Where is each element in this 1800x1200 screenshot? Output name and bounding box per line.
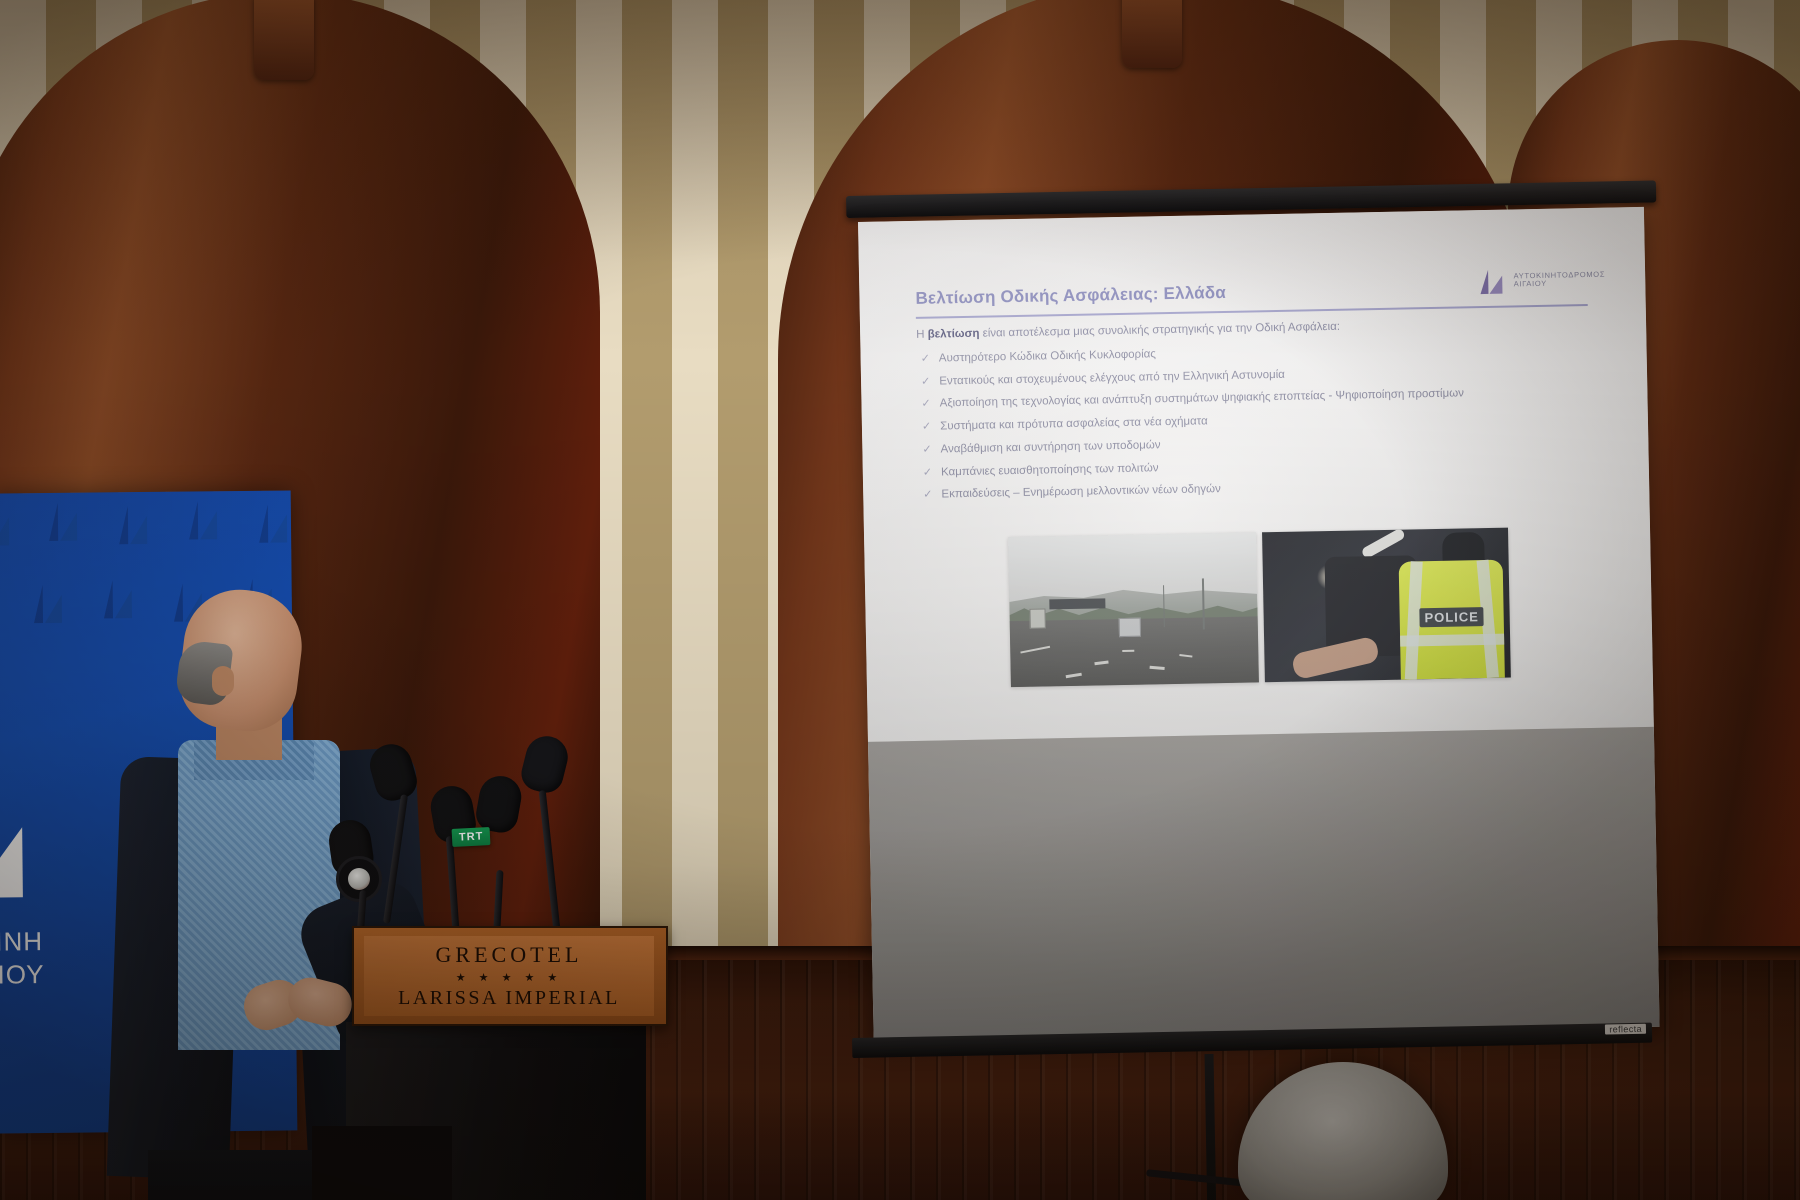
scene-vignette	[0, 0, 1800, 1200]
press-conference-scene: Βελτίωση Οδικής Ασφάλειας: Ελλάδα ΑΥΤΟΚΙ…	[0, 0, 1800, 1200]
